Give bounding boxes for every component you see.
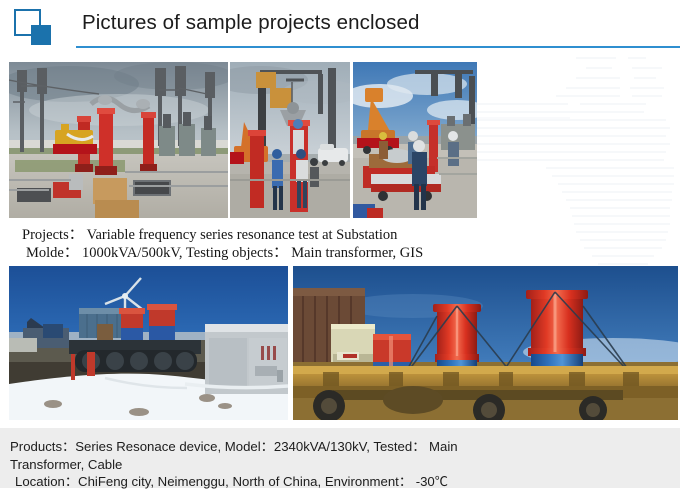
photo-reactors-trailer bbox=[293, 266, 678, 420]
two-squares-logo-icon bbox=[14, 9, 58, 47]
photo-crane-boom-truck bbox=[353, 62, 477, 218]
title-underline-rule bbox=[76, 46, 680, 48]
caption-bottom-line-2: Transformer, Cable bbox=[10, 456, 680, 474]
photo-crane-lift bbox=[230, 62, 350, 218]
photo-winter-site bbox=[9, 266, 288, 420]
caption-middle-line-1: Projects： Variable frequency series reso… bbox=[22, 226, 680, 244]
page-title: Pictures of sample projects enclosed bbox=[82, 11, 419, 35]
logo-filled-square bbox=[31, 25, 51, 45]
photo-substation-overview bbox=[9, 62, 228, 218]
page-header: Pictures of sample projects enclosed bbox=[0, 0, 680, 52]
caption-middle: Projects： Variable frequency series reso… bbox=[0, 222, 680, 262]
caption-bottom-line-1: Products：Series Resonace device, Model：2… bbox=[10, 438, 680, 456]
caption-middle-line-2: Molde： 1000kVA/500kV, Testing objects： M… bbox=[22, 244, 680, 262]
caption-bottom: Products：Series Resonace device, Model：2… bbox=[0, 428, 680, 488]
